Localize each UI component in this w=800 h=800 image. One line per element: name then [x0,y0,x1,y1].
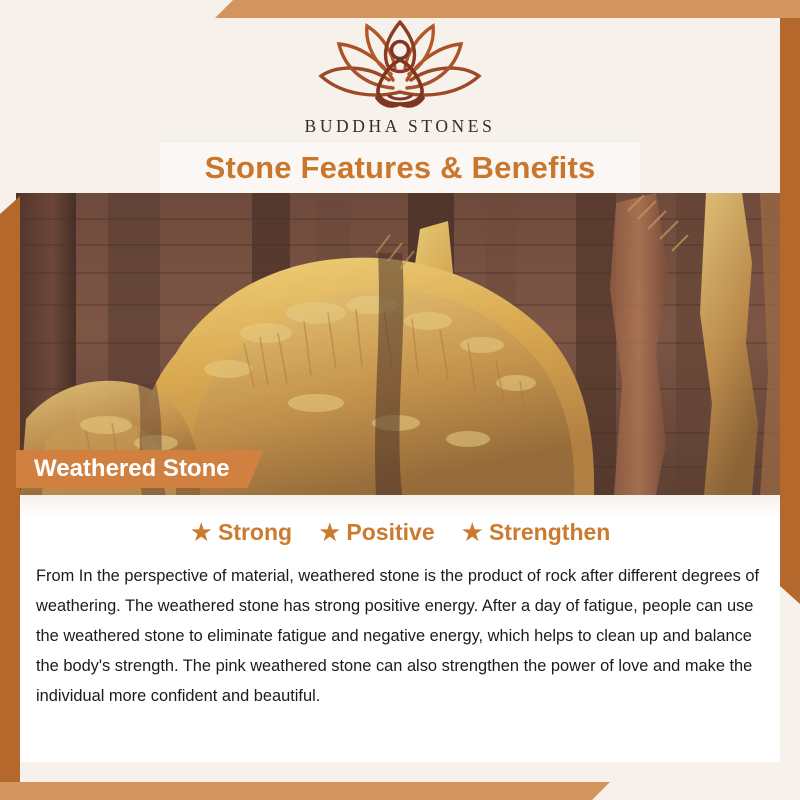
star-icon: ★ [190,519,213,545]
title-banner: Stone Features & Benefits [160,143,640,193]
photo-caption-label: Weathered Stone [34,455,230,483]
decor-band-bottom [0,782,610,800]
feature-label: Positive [346,519,434,546]
star-icon: ★ [461,519,484,545]
lotus-meditation-icon [305,14,495,112]
feature-label: Strengthen [489,519,610,546]
panel-top-fade [20,495,780,517]
decor-strip-right [780,18,800,604]
weathered-stone-photo [16,193,784,495]
feature-item-strong: ★ Strong [190,519,292,546]
decor-band-top [215,0,800,18]
header: BUDDHA STONES [0,0,800,143]
page-title: Stone Features & Benefits [205,150,596,186]
content-panel: ★ Strong ★ Positive ★ Strengthen From In… [20,495,780,762]
photo-illustration [16,193,784,495]
poster-root: BUDDHA STONES Stone Features & Benefits [0,0,800,800]
star-icon: ★ [318,519,341,545]
feature-label: Strong [218,519,292,546]
brand-name: BUDDHA STONES [305,116,496,137]
feature-item-positive: ★ Positive [318,519,435,546]
feature-list: ★ Strong ★ Positive ★ Strengthen [20,519,780,546]
description-paragraph: From In the perspective of material, wea… [36,561,766,711]
brand-logo: BUDDHA STONES [305,14,496,137]
decor-strip-left [0,196,20,782]
photo-caption-tag: Weathered Stone [16,450,264,488]
feature-item-strengthen: ★ Strengthen [461,519,611,546]
